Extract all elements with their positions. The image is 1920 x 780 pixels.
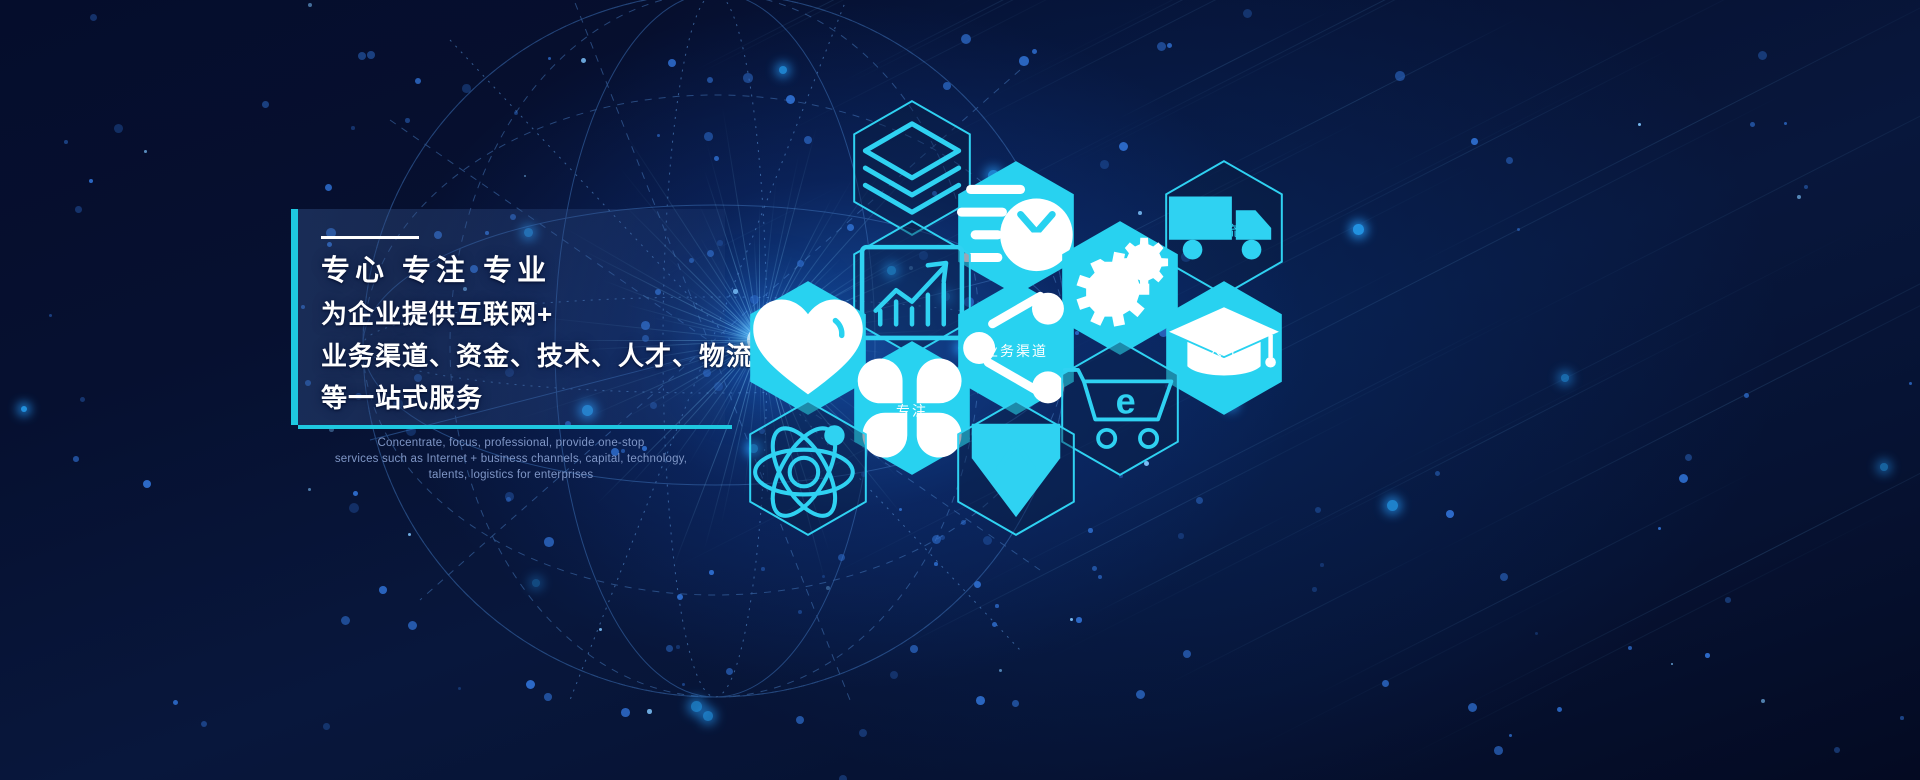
particle-dot [114, 124, 123, 133]
hexagon-content: 技术 [1061, 220, 1179, 356]
hexagon-tile-layers[interactable] [853, 100, 971, 236]
hexagon-cluster: 资金物流技术专心业务渠道人才专注e专业 [735, 100, 1335, 540]
particle-dot [599, 628, 602, 631]
particle-dot [506, 497, 511, 502]
headline-line-3: 业务渠道、资金、技术、人才、物流 [321, 335, 741, 377]
particle-dot [358, 52, 366, 60]
particle-dot [201, 721, 207, 727]
panel-bottom-rule [298, 425, 732, 429]
particle-dot [351, 126, 355, 130]
particle-dot [405, 118, 410, 123]
hexagon-content: 业务渠道 [957, 280, 1075, 416]
particle-dot [462, 84, 471, 93]
particle-dot [323, 723, 330, 730]
headline-line-2: 为企业提供互联网+ [321, 293, 741, 335]
particle-dot [341, 616, 350, 625]
particle-dot [408, 621, 417, 630]
particle-dot [21, 406, 27, 412]
particle-dot [548, 57, 551, 60]
particle-dot [458, 687, 461, 690]
particle-dot [514, 111, 518, 115]
english-caption: Concentrate, focus, professional, provid… [291, 435, 731, 483]
particle-dot [415, 78, 421, 84]
title-divider-rule [321, 236, 419, 239]
hexagon-tile-channels[interactable]: 业务渠道 [957, 280, 1075, 416]
hexagon-tile-devotion[interactable]: 专心 [749, 280, 867, 416]
particle-dot [505, 492, 514, 501]
particle-dot [581, 58, 586, 63]
hexagon-content: 专心 [749, 280, 867, 416]
hexagon-content [853, 100, 971, 236]
particle-dot [544, 693, 552, 701]
particle-dot [349, 503, 359, 513]
hexagon-content: 物流 [1165, 160, 1283, 296]
particle-dot [89, 179, 93, 183]
particle-dot [49, 314, 52, 317]
particle-dot [526, 680, 535, 689]
particle-dot [379, 586, 387, 594]
particle-dot [144, 150, 147, 153]
hexagon-tile-funds[interactable]: 资金 [957, 160, 1075, 296]
headline-panel: 专心 专注 专业 为企业提供互联网+ 业务渠道、资金、技术、人才、物流 等一站式… [291, 209, 725, 425]
particle-dot [308, 3, 312, 7]
headline-line-4: 等一站式服务 [321, 377, 741, 419]
hexagon-content: 专注 [853, 340, 971, 476]
particle-dot [90, 14, 97, 21]
particle-dot [308, 488, 311, 491]
particle-dot [262, 101, 269, 108]
hexagon-content: 人才 [1165, 280, 1283, 416]
english-caption-line-3: talents, logistics for enterprises [291, 467, 731, 483]
hexagon-content: 专业 [957, 400, 1075, 536]
hexagon-tile-logistics[interactable]: 物流 [1165, 160, 1283, 296]
hexagon-tile-chart[interactable] [853, 220, 971, 356]
headline-line-1: 专心 专注 专业 [321, 249, 741, 293]
particle-dot [367, 51, 375, 59]
hexagon-tile-ecommerce[interactable]: e [1061, 340, 1179, 476]
hexagon-content: 资金 [957, 160, 1075, 296]
hexagon-content [749, 400, 867, 536]
hexagon-content [853, 220, 971, 356]
hexagon-tile-talent[interactable]: 人才 [1165, 280, 1283, 416]
headline-group: 专心 专注 专业 为企业提供互联网+ 业务渠道、资金、技术、人才、物流 等一站式… [321, 249, 741, 419]
svg-text:e: e [1116, 381, 1136, 422]
hexagon-tile-focus[interactable]: 专注 [853, 340, 971, 476]
hexagon-tile-tech[interactable]: 技术 [1061, 220, 1179, 356]
english-caption-line-1: Concentrate, focus, professional, provid… [291, 435, 731, 451]
hexagon-tile-pro[interactable]: 专业 [957, 400, 1075, 536]
particle-dot [325, 184, 332, 191]
hero-banner: 专心 专注 专业 为企业提供互联网+ 业务渠道、资金、技术、人才、物流 等一站式… [0, 0, 1920, 780]
particle-dot [532, 579, 540, 587]
particle-dot [408, 533, 411, 536]
particle-dot [75, 206, 82, 213]
particle-dot [64, 140, 68, 144]
particle-dot [73, 456, 79, 462]
particle-dot [524, 175, 526, 177]
hexagon-content: e [1061, 340, 1179, 476]
particle-dot [80, 397, 85, 402]
particle-dot [353, 491, 358, 496]
particle-dot [173, 700, 178, 705]
hexagon-tile-atom[interactable] [749, 400, 867, 536]
particle-dot [143, 480, 151, 488]
particle-dot [544, 537, 554, 547]
english-caption-line-2: services such as Internet + business cha… [291, 451, 731, 467]
